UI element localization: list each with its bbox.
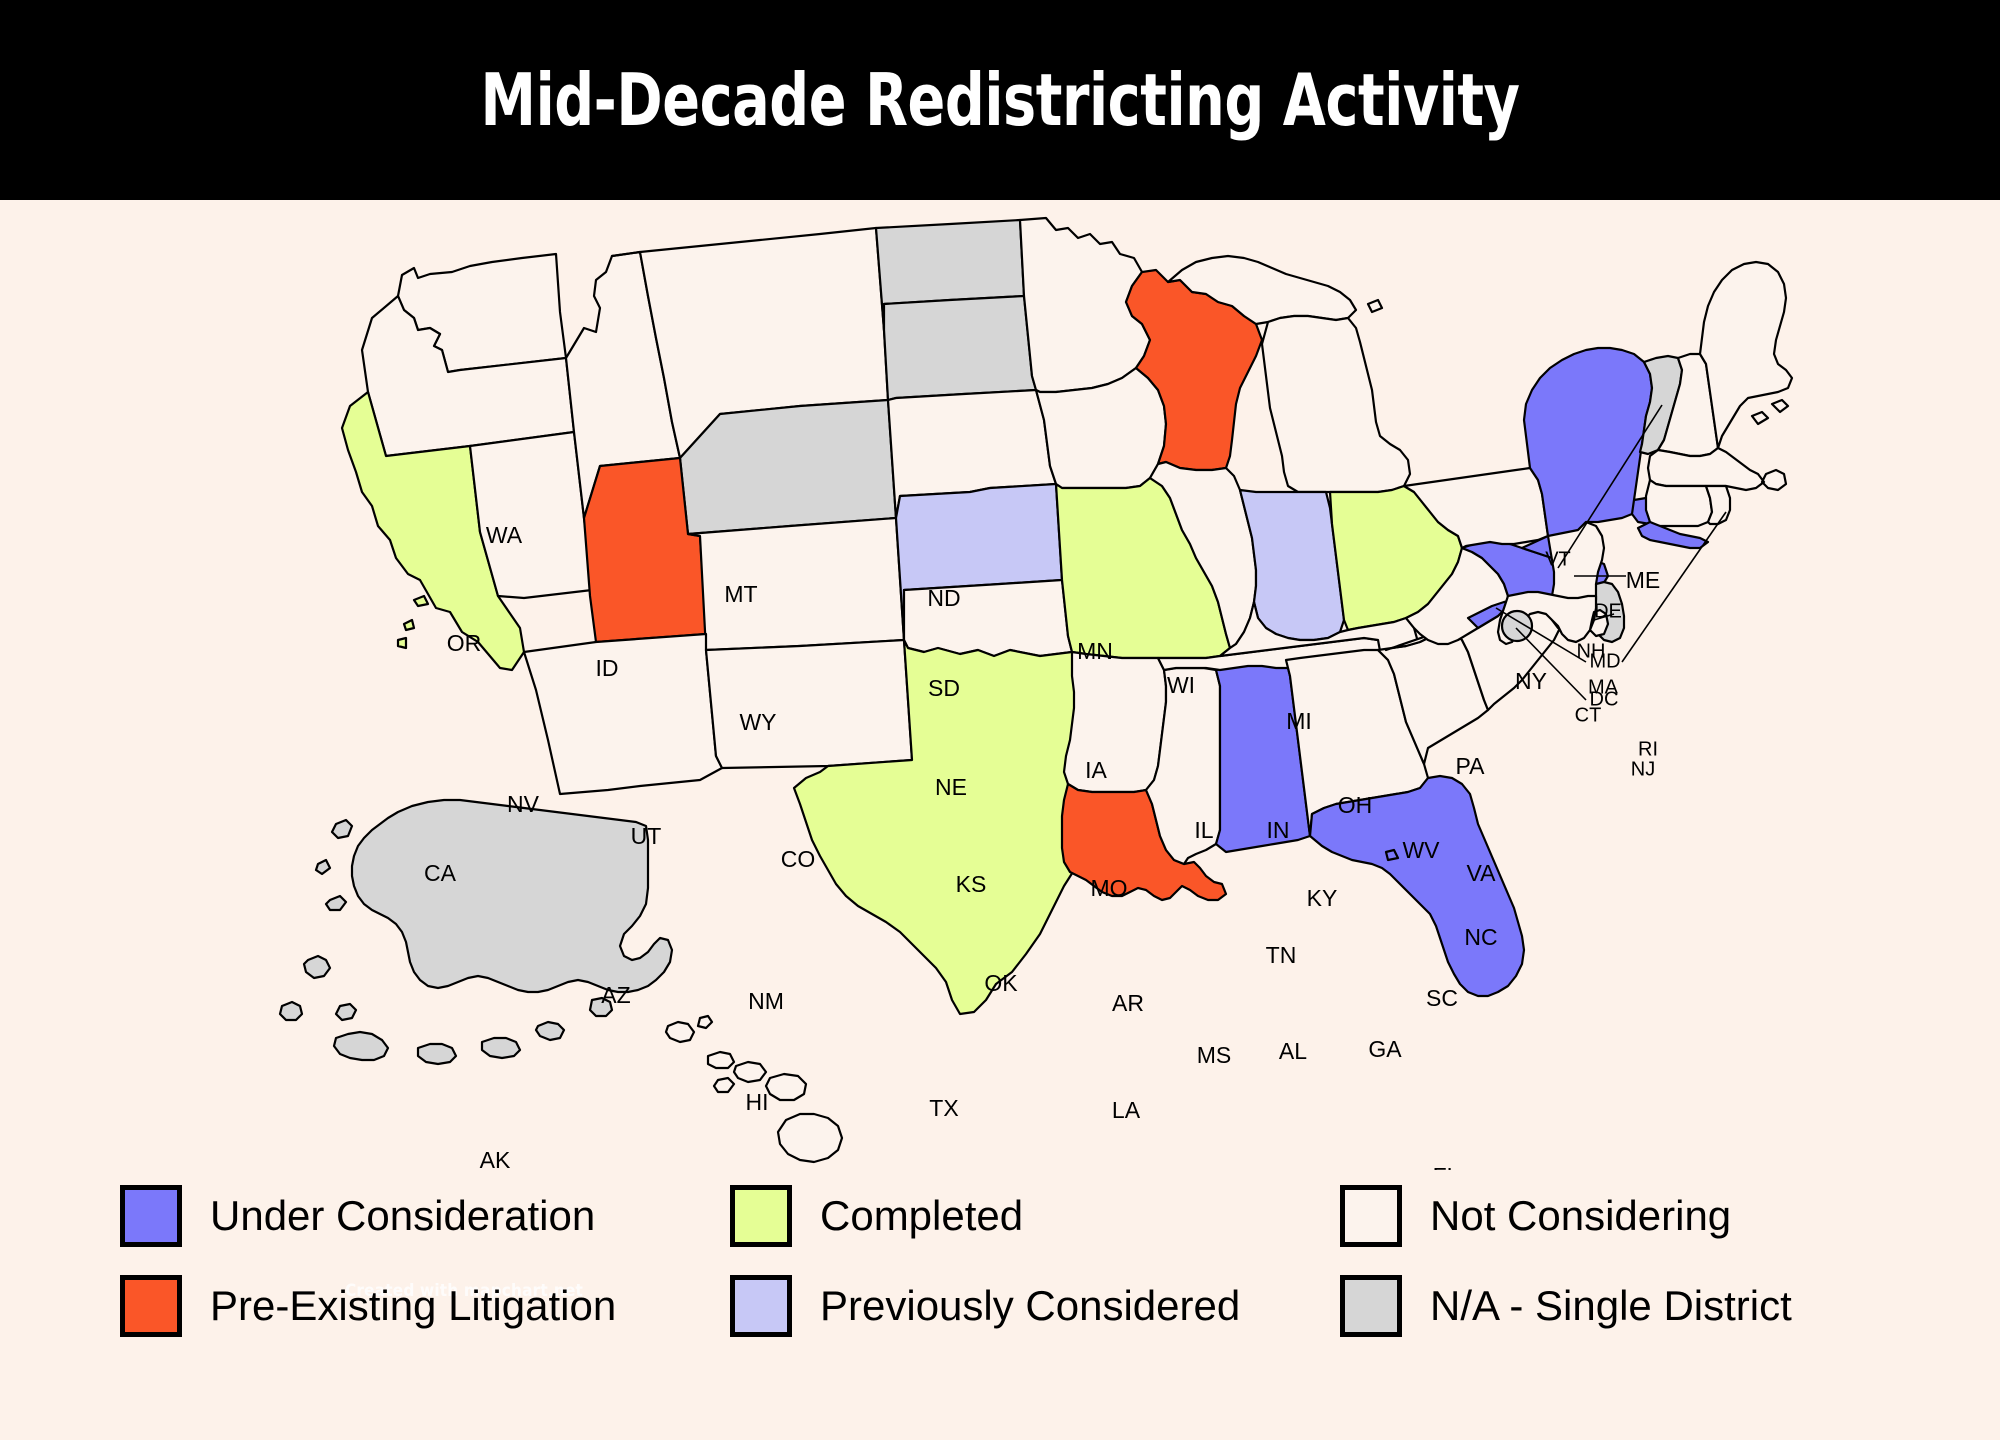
state-label-KY: KY (1307, 885, 1338, 911)
legend-label-na-single-district: N/A - Single District (1430, 1282, 1792, 1330)
legend-item-not-considering[interactable]: Not Considering (1340, 1185, 1731, 1247)
us-map: WA OR CA NV ID MT WY UT CO AZ NM ND SD N… (0, 200, 2000, 1170)
state-MA[interactable] (1648, 448, 1786, 490)
page-title: Mid-Decade Redistricting Activity (481, 58, 1520, 142)
state-FL[interactable] (1310, 776, 1524, 996)
legend-swatch-completed (730, 1185, 792, 1247)
state-AK[interactable] (280, 800, 672, 1064)
state-CT[interactable] (1646, 480, 1712, 526)
state-label-MD: MD (1589, 650, 1620, 672)
state-label-MS: MS (1197, 1042, 1232, 1068)
legend-swatch-na-single-district (1340, 1275, 1402, 1337)
state-label-CO: CO (781, 846, 816, 872)
state-label-NJ: NJ (1631, 758, 1655, 780)
state-label-CT: CT (1575, 704, 1602, 726)
state-label-AL: AL (1279, 1038, 1307, 1064)
state-ME[interactable] (1700, 262, 1792, 448)
state-label-TX: TX (929, 1095, 958, 1121)
state-label-HI: HI (746, 1089, 769, 1115)
state-AZ[interactable] (524, 634, 722, 794)
legend-swatch-under-consideration (120, 1185, 182, 1247)
state-NM[interactable] (706, 640, 912, 768)
title-bar: Mid-Decade Redistricting Activity (0, 0, 2000, 200)
state-label-PA: PA (1456, 753, 1486, 779)
state-label-GA: GA (1368, 1036, 1402, 1062)
legend-swatch-not-considering (1340, 1185, 1402, 1247)
legend-item-completed[interactable]: Completed (730, 1185, 1023, 1247)
state-CO[interactable] (688, 518, 904, 650)
legend-label-under-consideration: Under Consideration (210, 1192, 595, 1240)
legend-label-pre-existing-litigation: Pre-Existing Litigation (210, 1282, 616, 1330)
legend-label-not-considering: Not Considering (1430, 1192, 1731, 1240)
state-group-west (342, 228, 912, 794)
legend-item-under-consideration[interactable]: Under Consideration (120, 1185, 595, 1247)
state-label-SC: SC (1426, 985, 1458, 1011)
legend: Under Consideration Completed Not Consid… (0, 1175, 2000, 1390)
state-label-RI: RI (1638, 738, 1658, 760)
legend-item-pre-existing-litigation[interactable]: Pre-Existing Litigation (120, 1275, 616, 1337)
legend-item-previously-considered[interactable]: Previously Considered (730, 1275, 1240, 1337)
state-AR[interactable] (1064, 652, 1166, 792)
state-MI-lower[interactable] (1262, 316, 1410, 492)
state-group-noncontiguous (280, 800, 842, 1162)
state-label-TN: TN (1266, 942, 1297, 968)
state-label-AK: AK (480, 1147, 511, 1170)
legend-swatch-previously-considered (730, 1275, 792, 1337)
state-label-ME: ME (1626, 567, 1661, 593)
legend-swatch-pre-existing-litigation (120, 1275, 182, 1337)
legend-label-previously-considered: Previously Considered (820, 1282, 1240, 1330)
legend-label-completed: Completed (820, 1192, 1023, 1240)
us-map-svg: WA OR CA NV ID MT WY UT CO AZ NM ND SD N… (0, 200, 2000, 1170)
state-HI[interactable] (666, 1016, 842, 1162)
state-OK[interactable] (904, 580, 1072, 656)
state-label-LA: LA (1112, 1097, 1141, 1123)
state-label-DC: DC (1590, 688, 1619, 710)
state-label-FL: FL (1433, 1163, 1460, 1170)
state-group-midwest (1020, 218, 1462, 658)
state-label-NM: NM (748, 988, 784, 1014)
legend-item-na-single-district[interactable]: N/A - Single District (1340, 1275, 1792, 1337)
state-label-MA: MA (1588, 676, 1619, 698)
state-SD[interactable] (884, 296, 1036, 400)
state-label-AR: AR (1112, 990, 1144, 1016)
